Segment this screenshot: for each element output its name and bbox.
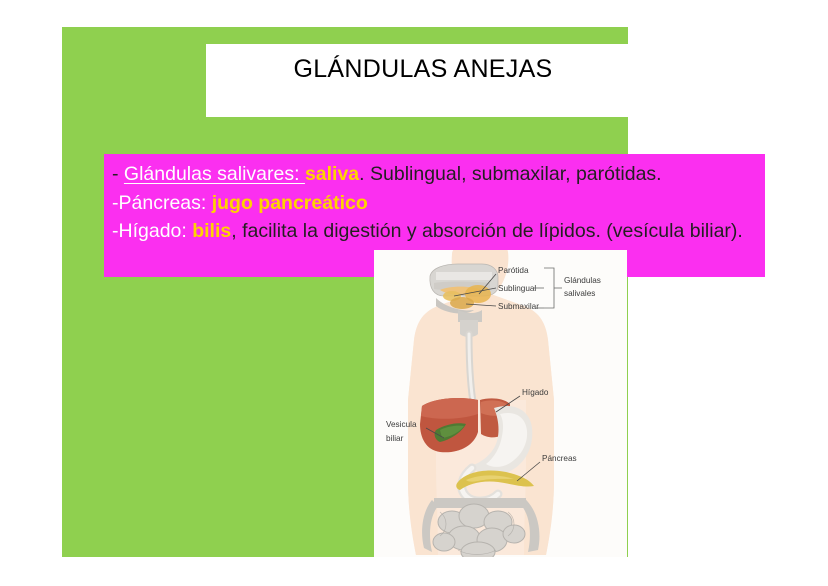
term-glandulas-salivares: Glándulas salivares: [124,163,305,185]
label-vesicula-biliar-line2: biliar [386,434,404,443]
body-line-1: - Glándulas salivares: saliva. Sublingua… [104,160,765,189]
title-box: GLÁNDULAS ANEJAS [206,44,640,117]
keyword-jugo-pancreatico: jugo pancreático [212,192,368,214]
slide-canvas: GLÁNDULAS ANEJAS - Glándulas salivares: … [0,0,828,586]
bullet-1: - [112,163,124,185]
keyword-saliva: saliva [305,163,359,185]
label-submaxilar: Submaxilar [498,302,539,311]
label-sublingual: Sublingual [498,284,536,293]
rest-line-1: . Sublingual, submaxilar, parótidas. [359,163,661,185]
label-pancreas: Páncreas [542,454,577,463]
body-line-3: -Hígado: bilis, facilita la digestión y … [104,217,765,246]
keyword-bilis: bilis [192,220,231,242]
term-pancreas: Páncreas: [119,192,212,214]
digestive-glands-diagram: Parótida Sublingual Submaxilar Glándulas… [374,250,627,557]
page-title: GLÁNDULAS ANEJAS [293,55,552,84]
label-vesicula-biliar-line1: Vesicula [386,420,417,429]
label-parotida: Parótida [498,266,529,275]
label-higado: Hígado [522,388,549,397]
esophagus [469,334,473,402]
term-higado: Hígado: [119,220,193,242]
rest-line-3: , facilita la digestión y absorción de l… [231,220,743,242]
body-line-2: -Páncreas: jugo pancreático [104,189,765,218]
anatomy-diagram-panel: Parótida Sublingual Submaxilar Glándulas… [374,250,627,557]
